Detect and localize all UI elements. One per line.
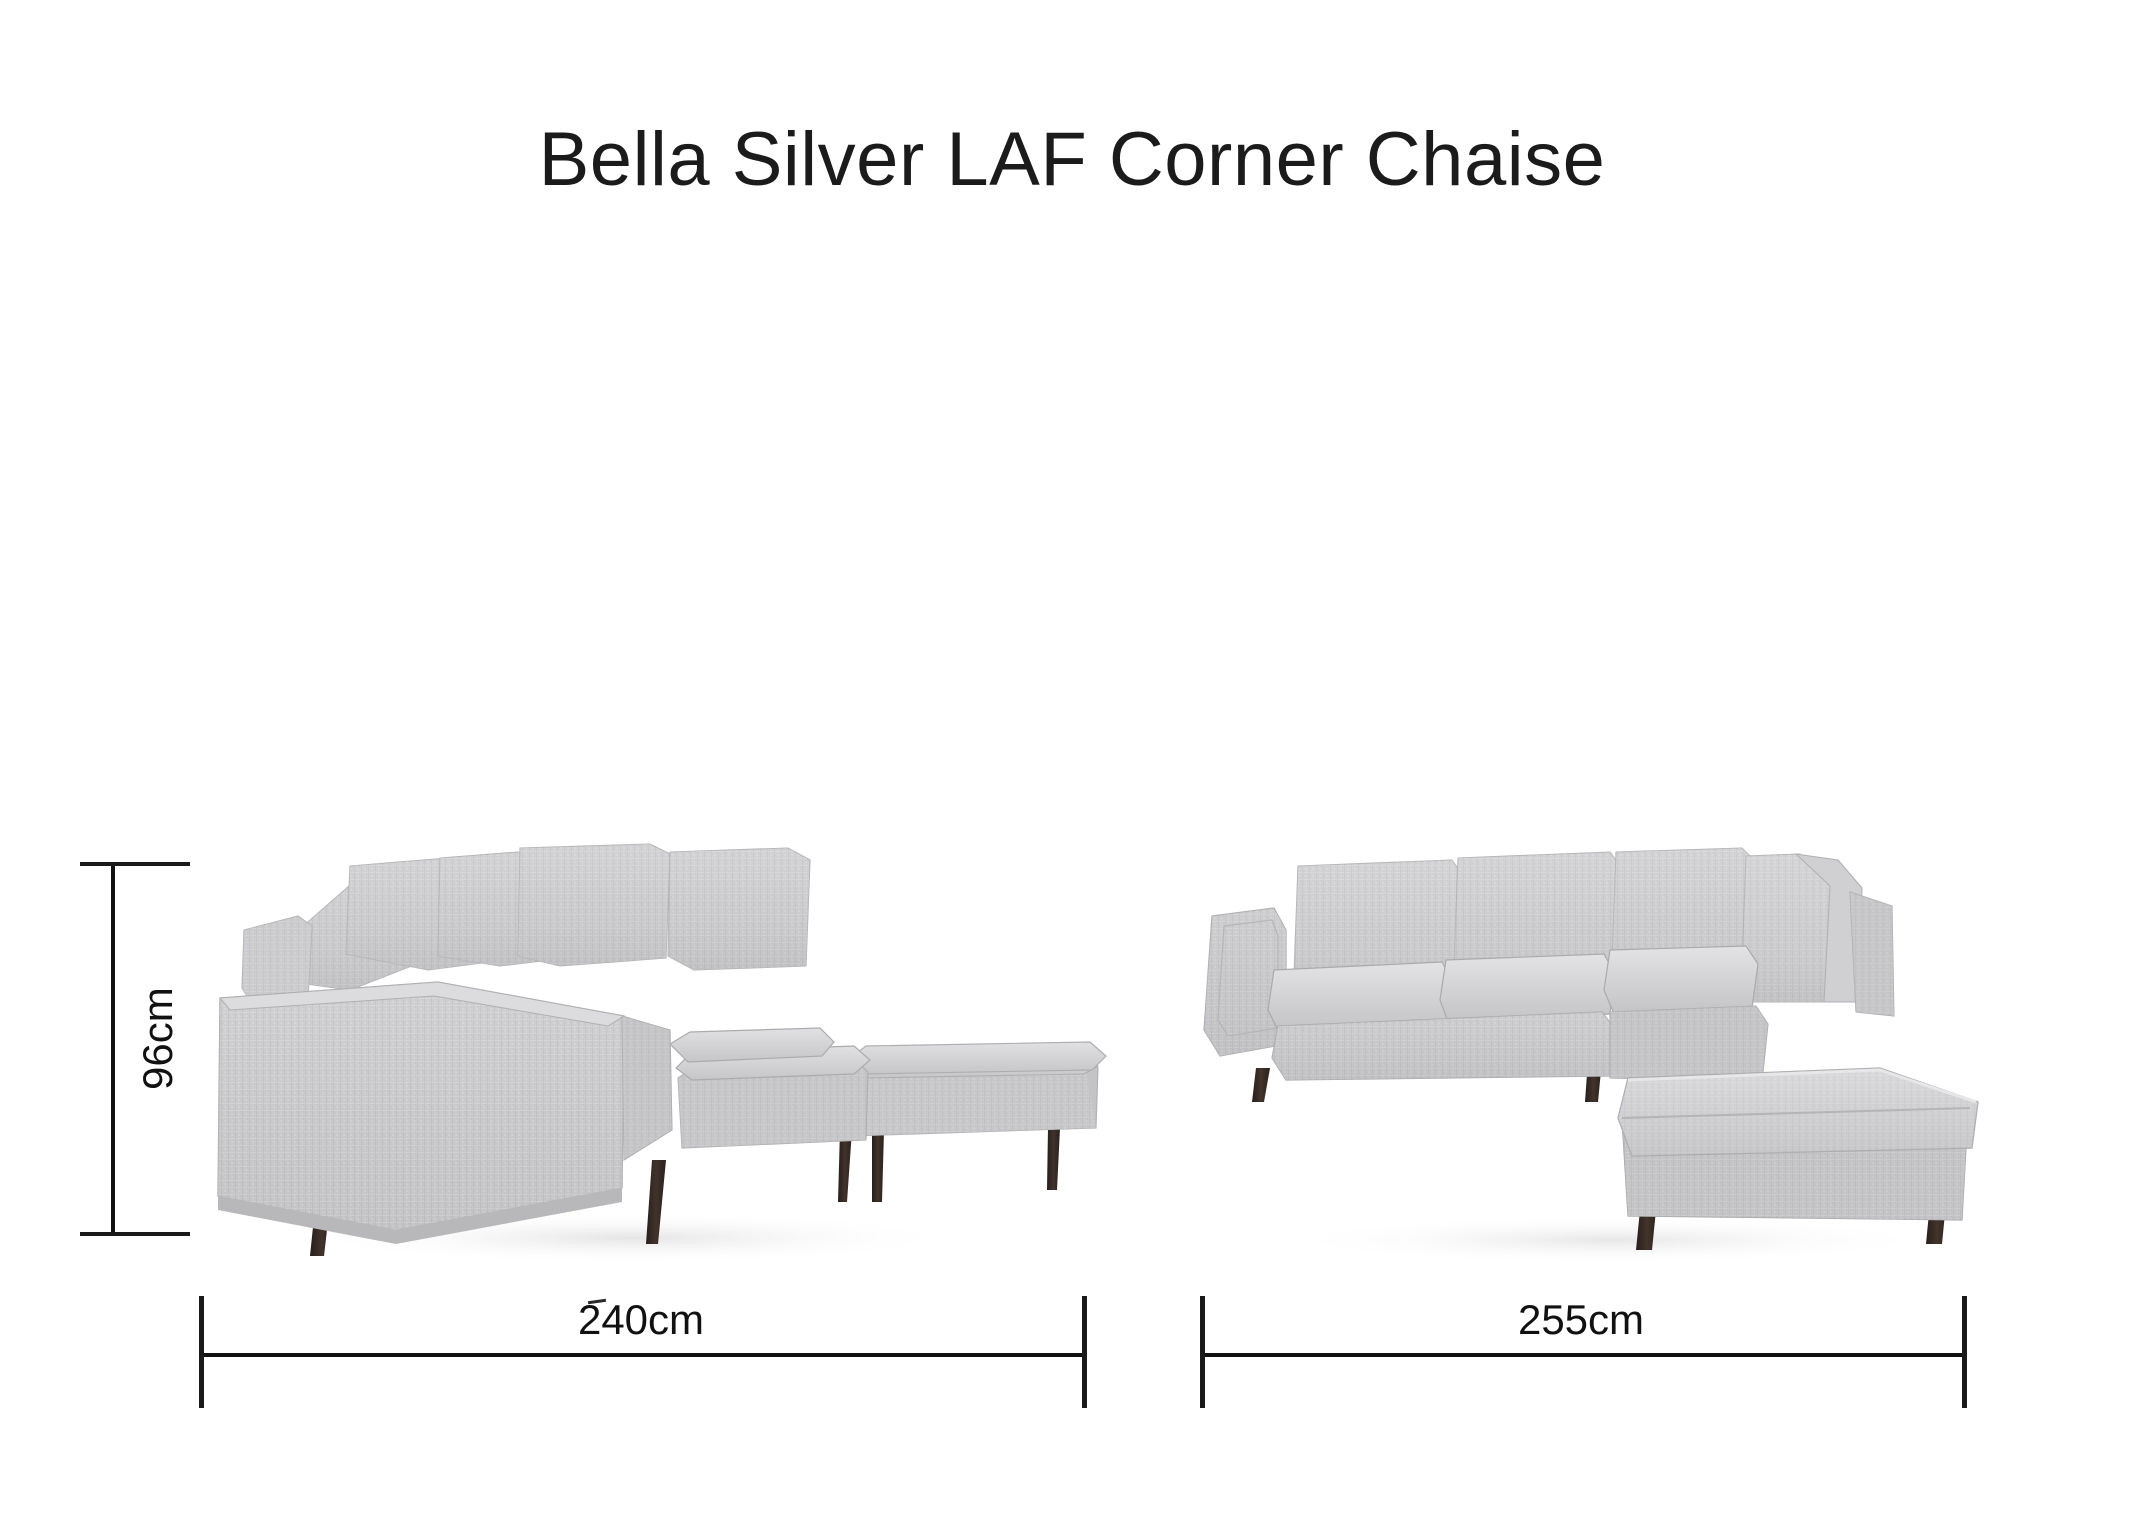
height-dimension-tick-bottom	[80, 1232, 190, 1236]
left-product-view	[200, 830, 1120, 1280]
left-width-tick-start	[199, 1296, 204, 1408]
right-width-dimension-label: 255cm	[1381, 1296, 1781, 1344]
right-width-dimension-line	[1200, 1353, 1962, 1357]
height-dimension-tick-top	[80, 862, 190, 866]
height-dimension-label: 96cm	[134, 987, 182, 1090]
right-width-tick-end	[1962, 1296, 1967, 1408]
left-width-dimension-label: 240cm	[441, 1296, 841, 1344]
page-title: Bella Silver LAF Corner Chaise	[0, 122, 2144, 198]
height-dimension-line	[111, 862, 115, 1234]
right-product-view	[1190, 830, 2010, 1280]
right-width-tick-start	[1200, 1296, 1205, 1408]
left-width-dimension-line	[199, 1353, 1082, 1357]
left-width-tick-end	[1082, 1296, 1087, 1408]
product-dimension-sheet: Bella Silver LAF Corner Chaise	[0, 0, 2144, 1528]
